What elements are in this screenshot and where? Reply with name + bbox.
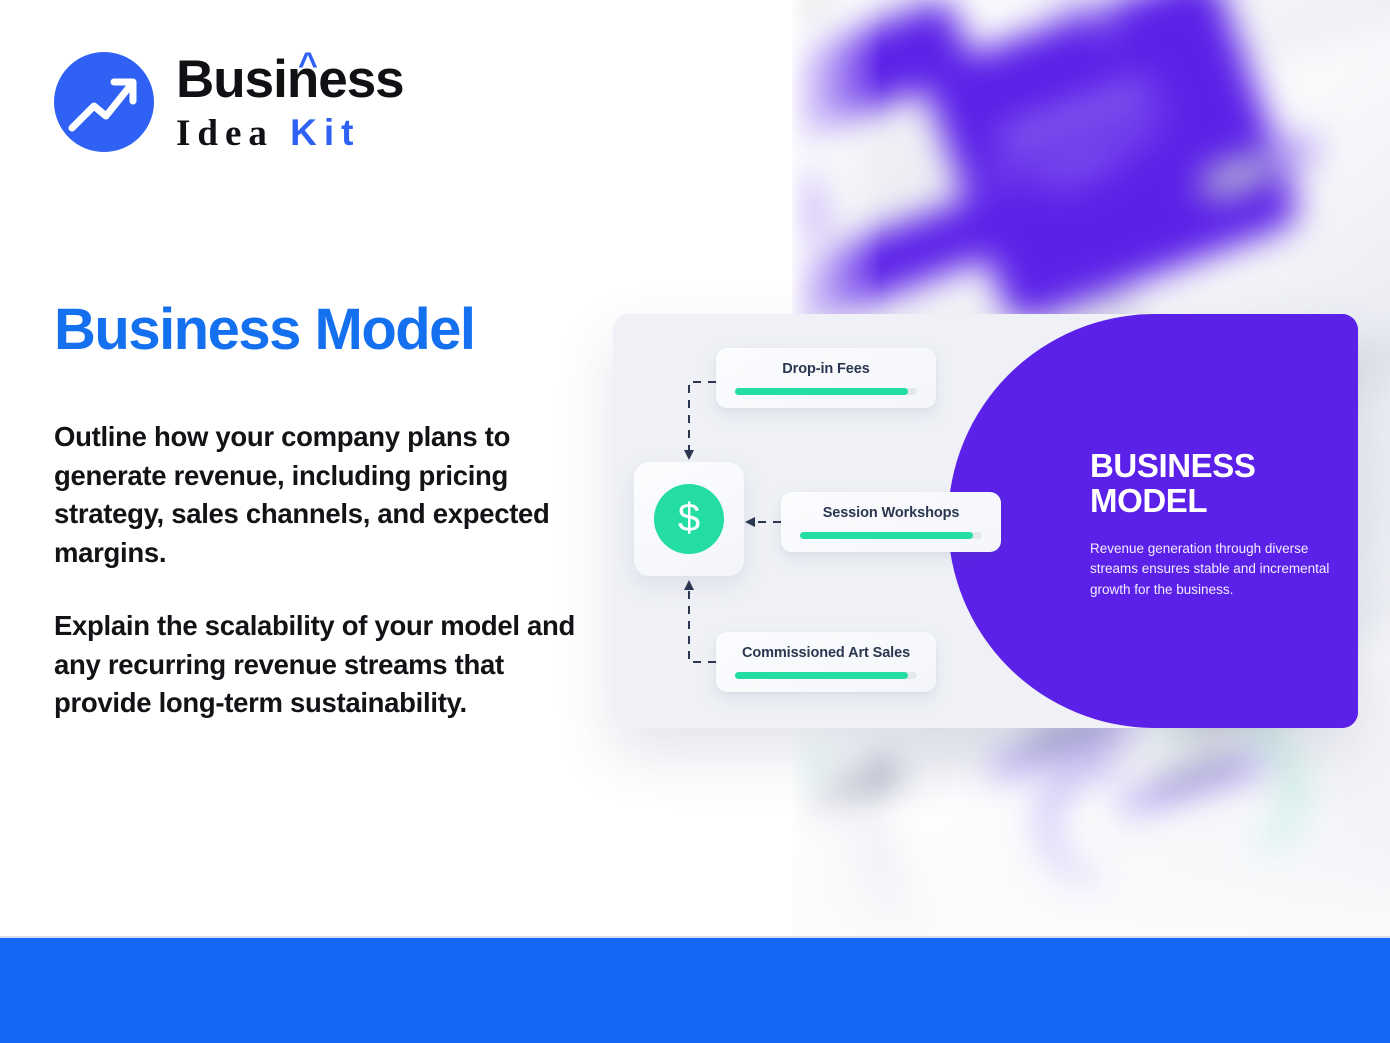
revenue-node[interactable]: Drop-in Fees: [716, 348, 936, 408]
slide-page: Business ^ Idea Kit Business Model Outli…: [0, 0, 1390, 1043]
revenue-hub-tile: $: [634, 462, 744, 576]
growth-arrow-icon: [54, 52, 154, 152]
brand-wordmark: Business ^ Idea Kit: [176, 53, 404, 152]
revenue-node-progress: [735, 672, 908, 679]
brand-name-top-text: Business: [176, 50, 404, 109]
card-panel-title: BUSINESS MODEL: [1090, 448, 1350, 519]
body-paragraph-1: Outline how your company plans to genera…: [54, 418, 584, 572]
body-paragraph-2: Explain the scalability of your model an…: [54, 607, 584, 723]
card-panel-description: Revenue generation through diverse strea…: [1090, 539, 1350, 601]
card-panel-text: BUSINESS MODEL Revenue generation throug…: [1090, 448, 1350, 600]
brand-logo: Business ^ Idea Kit: [54, 52, 404, 152]
page-title: Business Model: [54, 296, 475, 363]
revenue-node-progress: [735, 388, 908, 395]
revenue-node-track: [735, 672, 917, 679]
card-panel-title-line2: MODEL: [1090, 483, 1350, 518]
revenue-node-progress: [800, 532, 973, 539]
card-panel-title-line1: BUSINESS: [1090, 448, 1350, 483]
revenue-node[interactable]: Session Workshops: [781, 492, 1001, 552]
dollar-sign-icon: $: [654, 484, 724, 554]
svg-text:$: $: [678, 496, 700, 540]
brand-name-top: Business ^: [176, 53, 404, 106]
circumflex-accent-icon: ^: [298, 48, 317, 82]
footer-bar: [0, 938, 1390, 1043]
brand-name-bottom-accent: Kit: [290, 112, 360, 153]
revenue-node-track: [800, 532, 982, 539]
revenue-node-label: Drop-in Fees: [782, 361, 869, 377]
revenue-node-track: [735, 388, 917, 395]
brand-name-bottom-dark: Idea: [176, 113, 274, 154]
revenue-node-label: Commissioned Art Sales: [742, 645, 910, 661]
revenue-node-label: Session Workshops: [823, 505, 960, 521]
brand-name-bottom: Idea Kit: [176, 114, 404, 152]
revenue-node[interactable]: Commissioned Art Sales: [716, 632, 936, 692]
